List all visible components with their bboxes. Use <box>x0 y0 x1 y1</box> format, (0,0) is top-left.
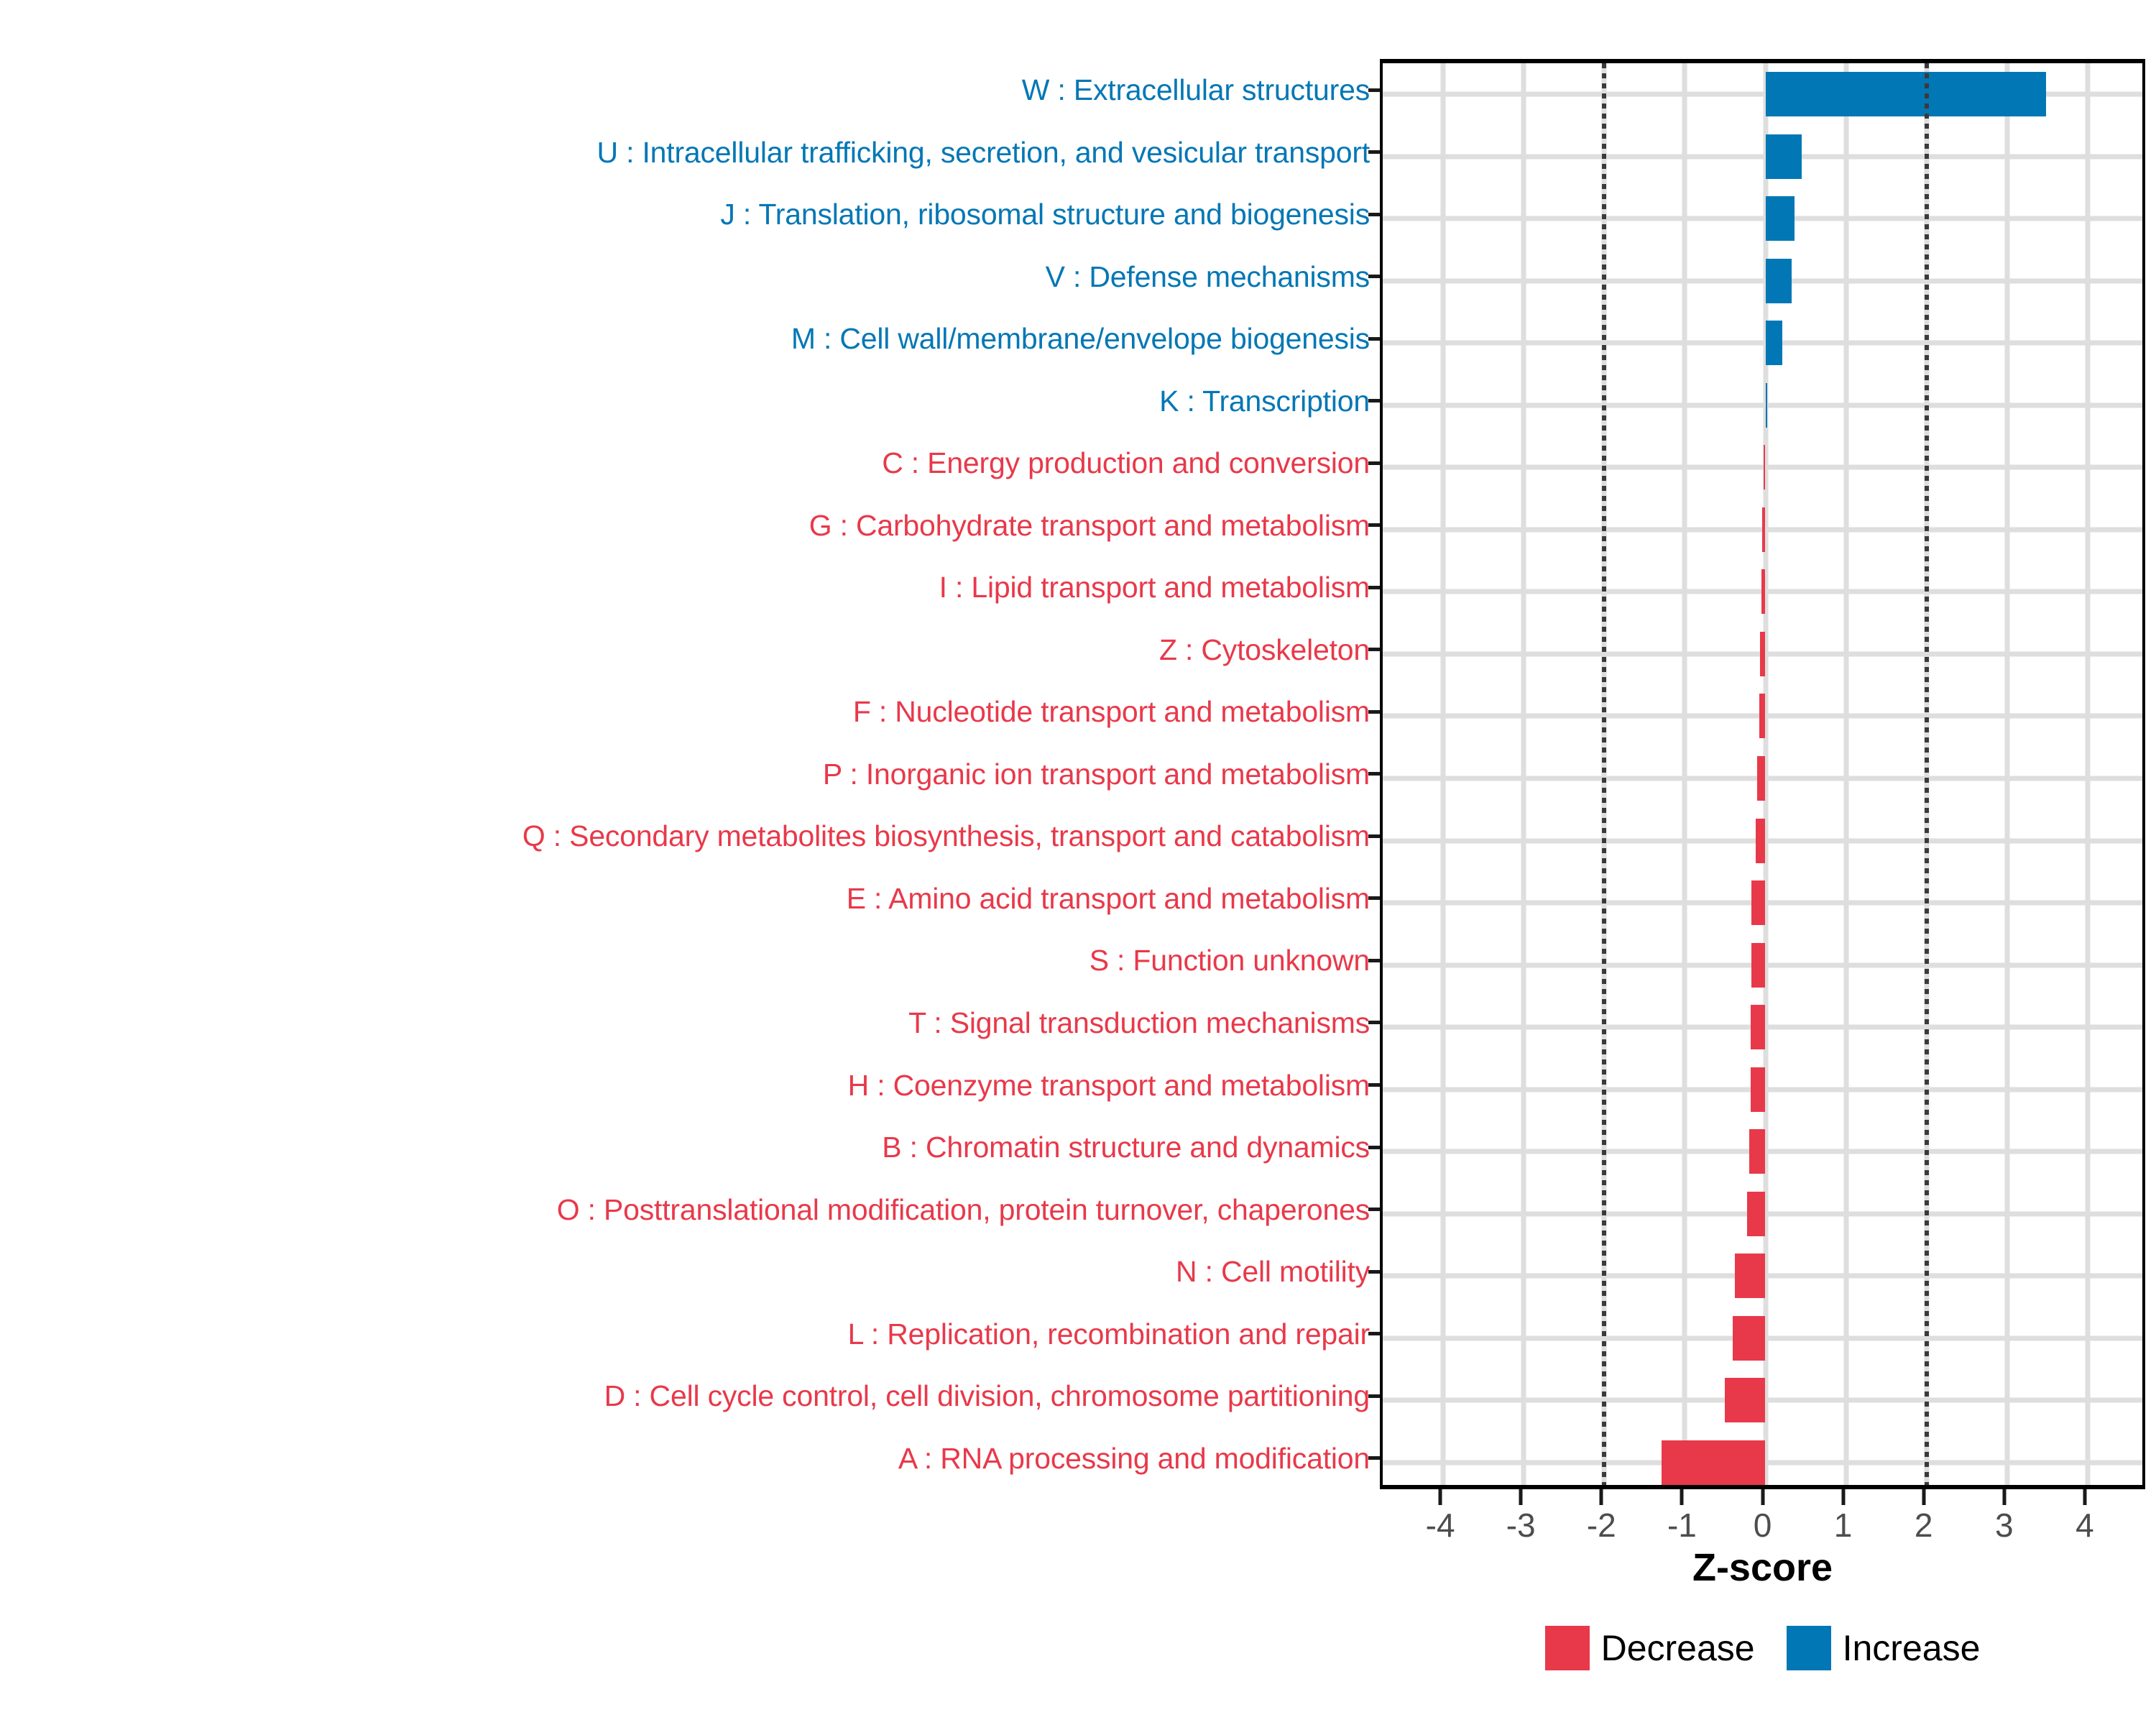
bar[interactable] <box>1766 383 1767 428</box>
bar[interactable] <box>1766 259 1792 303</box>
y-axis-tick <box>1368 896 1380 900</box>
bar[interactable] <box>1751 1067 1765 1112</box>
y-axis-label: C : Energy production and conversion <box>882 447 1370 479</box>
x-axis-title: Z-score <box>1380 1545 2145 1590</box>
y-axis-tick <box>1368 1456 1380 1460</box>
x-axis-tick-label: 0 <box>1754 1506 1772 1544</box>
x-axis-tick-label: -2 <box>1587 1506 1616 1544</box>
bar[interactable] <box>1751 880 1765 925</box>
x-axis-tick <box>1680 1489 1684 1505</box>
horizontal-gridline <box>1383 465 2142 470</box>
legend-label: Decrease <box>1601 1627 1755 1669</box>
horizontal-gridline <box>1383 278 2142 283</box>
y-axis-label: H : Coenzyme transport and metabolism <box>848 1069 1370 1101</box>
y-axis-tick <box>1368 834 1380 838</box>
x-axis-tick-label: 2 <box>1915 1506 1933 1544</box>
y-axis-label: K : Transcription <box>1159 385 1370 417</box>
y-axis-tick <box>1368 461 1380 465</box>
y-axis-tick <box>1368 275 1380 278</box>
y-axis-tick <box>1368 1083 1380 1087</box>
vertical-gridline <box>1521 63 1526 1485</box>
y-axis-label: O : Posttranslational modification, prot… <box>557 1194 1370 1225</box>
y-axis-tick <box>1368 523 1380 527</box>
bar[interactable] <box>1751 943 1765 988</box>
horizontal-gridline <box>1383 402 2142 408</box>
y-axis-label: U : Intracellular trafficking, secretion… <box>596 137 1370 168</box>
x-axis-tick <box>2002 1489 2006 1505</box>
x-axis-tick <box>1841 1489 1845 1505</box>
bar[interactable] <box>1756 819 1765 863</box>
y-axis-tick <box>1368 1207 1380 1211</box>
x-axis-tick <box>1761 1489 1764 1505</box>
chart-legend: DecreaseIncrease <box>1380 1626 2145 1670</box>
bar[interactable] <box>1733 1316 1766 1361</box>
y-axis-tick <box>1368 710 1380 714</box>
legend-label: Increase <box>1843 1627 1981 1669</box>
y-axis-tick <box>1368 648 1380 651</box>
horizontal-gridline <box>1383 216 2142 221</box>
y-axis-labels: W : Extracellular structuresU : Intracel… <box>0 59 1380 1489</box>
y-axis-tick <box>1368 1021 1380 1024</box>
horizontal-gridline <box>1383 341 2142 346</box>
bar[interactable] <box>1725 1378 1765 1422</box>
reference-line <box>1925 63 1929 1485</box>
reference-line <box>1602 63 1606 1485</box>
bar[interactable] <box>1766 321 1783 365</box>
x-axis-tick <box>1922 1489 1925 1505</box>
y-axis-tick <box>1368 1394 1380 1398</box>
bar[interactable] <box>1766 72 2046 116</box>
y-axis-tick <box>1368 586 1380 589</box>
y-axis-label: Q : Secondary metabolites biosynthesis, … <box>522 820 1370 852</box>
bar[interactable] <box>1764 445 1765 489</box>
bar[interactable] <box>1751 1005 1765 1049</box>
y-axis-label: I : Lipid transport and metabolism <box>939 571 1370 603</box>
vertical-gridline <box>1843 63 1848 1485</box>
y-axis-label: N : Cell motility <box>1176 1256 1370 1287</box>
y-axis-label: T : Signal transduction mechanisms <box>908 1007 1370 1039</box>
y-axis-tick <box>1368 150 1380 154</box>
y-axis-tick <box>1368 1146 1380 1149</box>
x-axis-tick <box>2083 1489 2086 1505</box>
y-axis-label: Z : Cytoskeleton <box>1159 634 1370 666</box>
x-axis-tick-label: -3 <box>1506 1506 1536 1544</box>
x-axis-tick <box>1439 1489 1442 1505</box>
bar[interactable] <box>1761 569 1766 614</box>
y-axis-label: A : RNA processing and modification <box>898 1443 1370 1474</box>
bar[interactable] <box>1766 196 1795 241</box>
vertical-gridline <box>2004 63 2009 1485</box>
y-axis-tick <box>1368 213 1380 216</box>
y-axis-tick <box>1368 337 1380 341</box>
x-axis-tick-label: 1 <box>1834 1506 1853 1544</box>
legend-item[interactable]: Decrease <box>1545 1626 1755 1670</box>
x-axis-tick <box>1519 1489 1523 1505</box>
y-axis-label: V : Defense mechanisms <box>1046 261 1370 293</box>
x-axis-tick <box>1600 1489 1603 1505</box>
y-axis-label: F : Nucleotide transport and metabolism <box>853 696 1370 727</box>
x-axis-tick-label: -4 <box>1426 1506 1455 1544</box>
bar[interactable] <box>1760 632 1766 676</box>
y-axis-tick <box>1368 1332 1380 1335</box>
y-axis-tick <box>1368 959 1380 962</box>
bar[interactable] <box>1749 1129 1765 1174</box>
bar[interactable] <box>1735 1253 1766 1298</box>
plot-panel <box>1380 59 2145 1489</box>
y-axis-label: D : Cell cycle control, cell division, c… <box>604 1380 1370 1412</box>
y-axis-label: P : Inorganic ion transport and metaboli… <box>823 758 1370 790</box>
y-axis-label: W : Extracellular structures <box>1022 74 1370 106</box>
x-axis-tick-label: -1 <box>1667 1506 1697 1544</box>
y-axis-label: L : Replication, recombination and repai… <box>848 1318 1370 1350</box>
y-axis-label: S : Function unknown <box>1089 944 1370 976</box>
y-axis-tick <box>1368 772 1380 776</box>
y-axis-label: M : Cell wall/membrane/envelope biogenes… <box>791 323 1370 354</box>
x-axis-tick-label: 4 <box>2076 1506 2094 1544</box>
bar[interactable] <box>1762 507 1765 552</box>
vertical-gridline <box>1441 63 1446 1485</box>
y-axis-tick <box>1368 1270 1380 1274</box>
y-axis-tick <box>1368 88 1380 92</box>
bar[interactable] <box>1747 1192 1766 1236</box>
bar[interactable] <box>1757 756 1765 801</box>
horizontal-gridline <box>1383 154 2142 159</box>
bar[interactable] <box>1662 1440 1766 1485</box>
y-axis-label: E : Amino acid transport and metabolism <box>847 883 1370 914</box>
vertical-gridline <box>1682 63 1687 1485</box>
chart-figure: W : Extracellular structuresU : Intracel… <box>0 0 2156 1725</box>
y-axis-tick <box>1368 399 1380 402</box>
bar[interactable] <box>1766 134 1802 179</box>
legend-swatch <box>1545 1626 1590 1670</box>
y-axis-ticks <box>1368 59 1380 1489</box>
y-axis-label: G : Carbohydrate transport and metabolis… <box>809 510 1370 541</box>
y-axis-label: J : Translation, ribosomal structure and… <box>720 198 1370 230</box>
x-axis-tick-label: 3 <box>1995 1506 2014 1544</box>
vertical-gridline <box>2085 63 2090 1485</box>
bar[interactable] <box>1759 694 1766 738</box>
legend-swatch <box>1787 1626 1831 1670</box>
y-axis-label: B : Chromatin structure and dynamics <box>882 1131 1370 1163</box>
legend-item[interactable]: Increase <box>1787 1626 1981 1670</box>
